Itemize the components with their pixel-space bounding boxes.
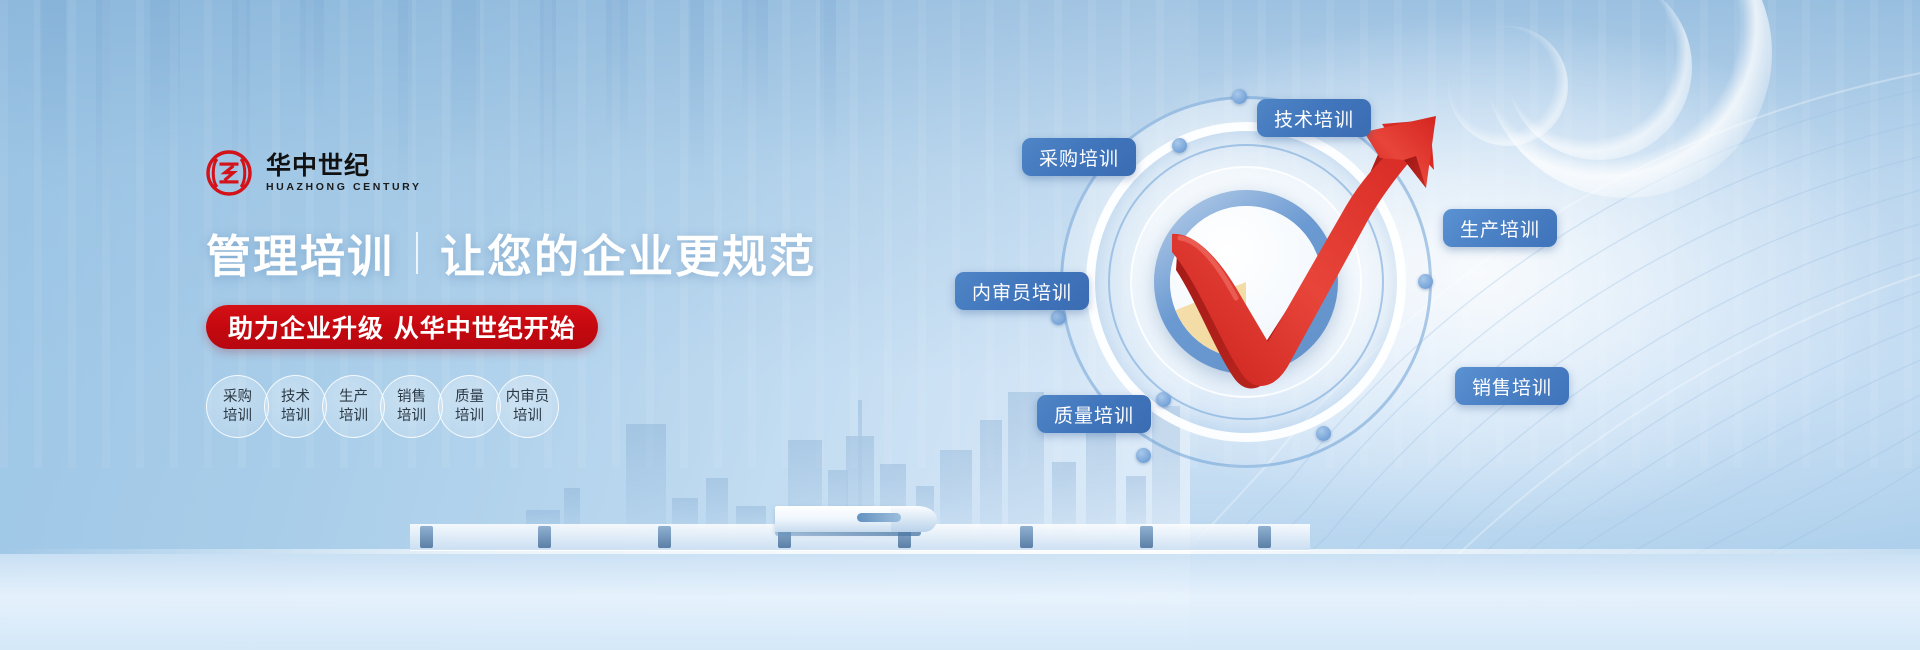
high-speed-train-icon xyxy=(775,498,915,532)
slogan-badge: 助力企业升级 从华中世纪开始 xyxy=(206,305,598,349)
circle-tag-line2: 培训 xyxy=(397,407,426,425)
circle-tag-line2: 培训 xyxy=(339,407,368,425)
label-pill-shengchan[interactable]: 生产培训 xyxy=(1443,209,1557,247)
floor-reflection xyxy=(0,554,1920,650)
connector-node-shengchan xyxy=(1418,274,1433,289)
headline-left: 管理培训 xyxy=(206,220,394,285)
circle-tag-line1: 质量 xyxy=(455,388,484,406)
circle-tag-list: 采购 培训 技术 培训 生产 培训 销售 培训 质量 培训 内审员 培训 xyxy=(206,375,946,438)
brand-logo[interactable]: 华中世纪 HUAZHONG CENTURY xyxy=(206,150,946,196)
brand-name-en: HUAZHONG CENTURY xyxy=(266,182,422,193)
circle-tag-xiaoshou[interactable]: 销售 培训 xyxy=(380,375,443,438)
circle-tag-jishu[interactable]: 技术 培训 xyxy=(264,375,327,438)
label-pill-caigou[interactable]: 采购培训 xyxy=(1022,138,1136,176)
connector-node-zhiliang xyxy=(1136,448,1151,463)
circle-tag-shengchan[interactable]: 生产 培训 xyxy=(322,375,385,438)
circle-tag-neishenyuan[interactable]: 内审员 培训 xyxy=(496,375,559,438)
label-pill-xiaoshou[interactable]: 销售培训 xyxy=(1455,367,1569,405)
circle-tag-line1: 采购 xyxy=(223,388,252,406)
connector-node-jishu xyxy=(1232,89,1247,104)
circle-tag-line1: 技术 xyxy=(281,388,310,406)
connector-node-inner-top xyxy=(1172,138,1187,153)
circle-tag-line2: 培训 xyxy=(223,407,252,425)
connector-node-neishen xyxy=(1051,310,1066,325)
marketing-banner: 华中世纪 HUAZHONG CENTURY 管理培训 让您的企业更规范 助力企业… xyxy=(0,0,1920,650)
label-pill-neishen[interactable]: 内审员培训 xyxy=(955,272,1089,310)
circle-tag-line1: 内审员 xyxy=(506,388,550,406)
connector-node-xiaoshou xyxy=(1316,426,1331,441)
label-pill-jishu[interactable]: 技术培训 xyxy=(1257,99,1371,137)
brand-name-cn: 华中世纪 xyxy=(266,153,422,178)
label-pill-zhiliang[interactable]: 质量培训 xyxy=(1037,395,1151,433)
circle-tag-line2: 培训 xyxy=(455,407,484,425)
pie-wedge xyxy=(1170,282,1246,358)
circle-tag-caigou[interactable]: 采购 培训 xyxy=(206,375,269,438)
target-inner-disc xyxy=(1170,206,1322,358)
circle-tag-zhiliang[interactable]: 质量 培训 xyxy=(438,375,501,438)
headline-right: 让您的企业更规范 xyxy=(440,220,816,285)
circle-tag-line1: 销售 xyxy=(397,388,426,406)
connector-node-inner-bottom xyxy=(1156,392,1171,407)
circle-tag-line1: 生产 xyxy=(339,388,368,406)
headline-divider xyxy=(416,232,418,274)
circle-tag-line2: 培训 xyxy=(513,407,542,425)
circle-tag-line2: 培训 xyxy=(281,407,310,425)
banner-content: 华中世纪 HUAZHONG CENTURY 管理培训 让您的企业更规范 助力企业… xyxy=(206,150,946,438)
huazhong-circle-emblem-icon xyxy=(206,150,252,196)
page-title: 管理培训 让您的企业更规范 xyxy=(206,220,946,285)
